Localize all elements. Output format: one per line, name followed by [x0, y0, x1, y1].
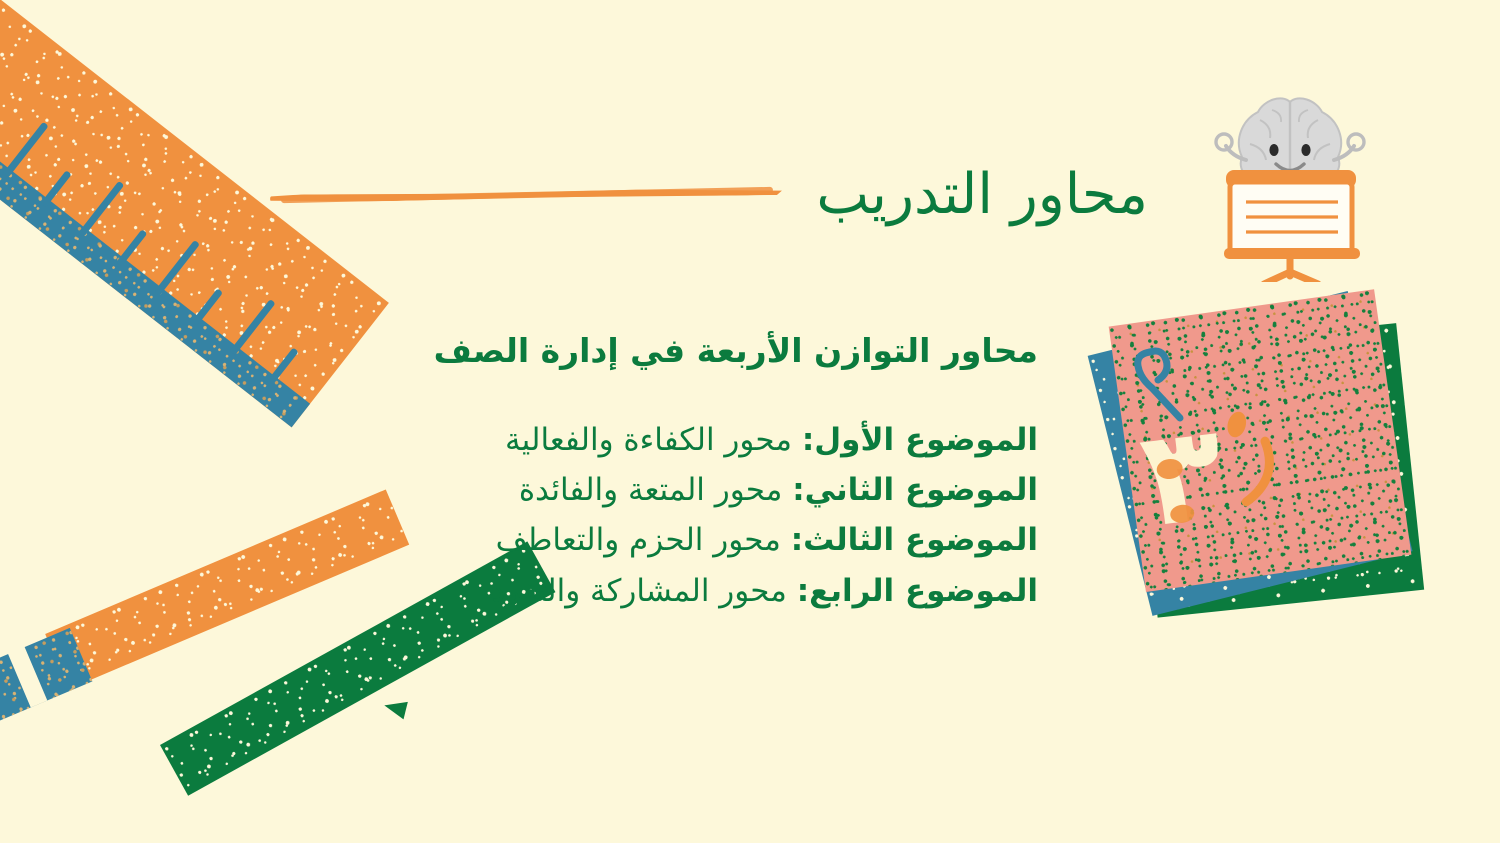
brain-mascot-easel-icon	[1180, 62, 1400, 282]
topic-text: محور الكفاءة والفعالية	[505, 422, 802, 458]
title-underline-brushstroke	[270, 188, 782, 201]
green-triangle-arrow-icon	[382, 697, 408, 720]
slide-canvas: محاور التدريب محاور التوازن الأربعة في إ…	[0, 0, 1500, 843]
content-body: محاور التوازن الأربعة في إدارة الصف المو…	[458, 330, 1038, 616]
note-number-glyph: ٣	[1133, 395, 1232, 558]
mascot-eye-left	[1269, 144, 1278, 156]
topic-label: الموضوع الثالث:	[791, 522, 1038, 558]
topic-label: الموضوع الرابع:	[797, 573, 1038, 609]
topic-text: محور المشاركة والتفرد	[491, 573, 797, 609]
topic-label: الموضوع الثاني:	[792, 472, 1038, 508]
mascot-hand-left	[1216, 134, 1232, 150]
content-subtitle: محاور التوازن الأربعة في إدارة الصف	[458, 330, 1038, 373]
topic-line: الموضوع الثالث: محور الحزم والتعاطف	[458, 515, 1038, 565]
topic-text: محور الحزم والتعاطف	[496, 522, 791, 558]
page-title: محاور التدريب	[816, 164, 1148, 226]
topic-line: الموضوع الرابع: محور المشاركة والتفرد	[458, 566, 1038, 616]
topic-line: الموضوع الثاني: محور المتعة والفائدة	[458, 465, 1038, 515]
topic-text: محور المتعة والفائدة	[519, 472, 792, 508]
marker-pen-decoration	[0, 489, 412, 753]
topic-label: الموضوع الأول:	[802, 422, 1038, 458]
sticky-note-number: ٣	[1122, 378, 1332, 558]
mascot-eye-right	[1301, 144, 1310, 156]
topic-line: الموضوع الأول: محور الكفاءة والفعالية	[458, 415, 1038, 465]
mascot-hand-right	[1348, 134, 1364, 150]
slide-header: محاور التدريب	[270, 126, 1148, 263]
